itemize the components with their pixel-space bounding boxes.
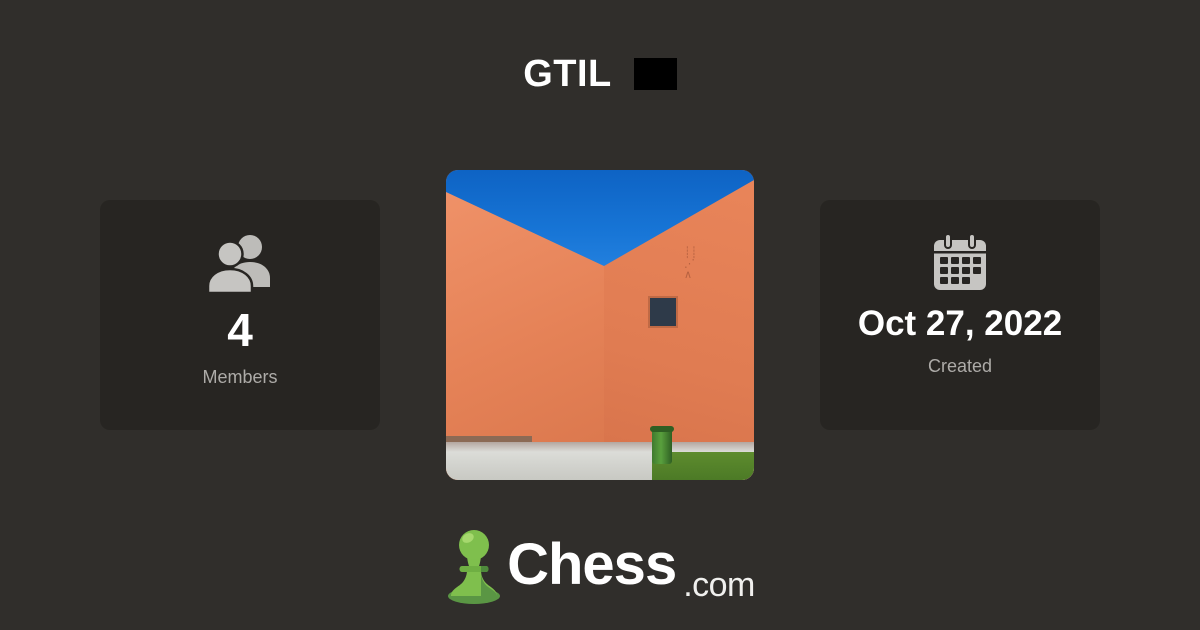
club-avatar-image: ┊┊⋰∧ [446,170,754,480]
members-label: Members [202,368,277,386]
chesscom-logo[interactable]: Chess .com [0,520,1200,610]
created-label: Created [928,357,992,375]
club-avatar-photo[interactable]: ┊┊⋰∧ [446,170,754,480]
trash-bin-lid [650,426,674,432]
stat-card-members: 4 Members [100,200,380,430]
members-count: 4 [227,306,253,354]
stat-card-created: Oct 27, 2022 Created [820,200,1100,430]
members-people-icon [204,226,276,300]
logo-tld: .com [683,568,755,602]
wall-marking: ┊┊⋰∧ [684,248,712,294]
calendar-icon [931,226,989,300]
logo-wordmark: Chess [507,536,676,594]
redacted-flag-block-icon [634,58,677,90]
created-date: Oct 27, 2022 [858,306,1062,343]
chess-pawn-icon [445,526,503,604]
page-title-row: GTIL [0,48,1200,100]
trash-bin [652,430,672,464]
pavement-shadow [446,442,754,452]
wall-window [648,296,678,328]
page-title: GTIL [523,55,612,93]
